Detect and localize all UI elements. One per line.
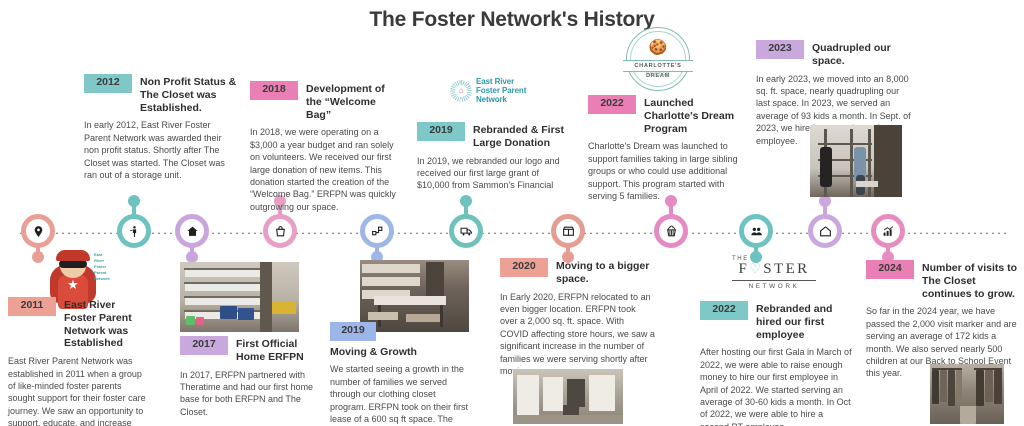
page-title: The Foster Network's History [0, 8, 1024, 32]
pin-ball [128, 195, 140, 207]
timeline-pin-2020[interactable] [551, 214, 585, 262]
event-card-2019-growth: 2019 Moving & Growth We started seeing a… [330, 320, 472, 426]
event-body: We started seeing a growth in the number… [330, 363, 472, 426]
year-badge: 2018 [250, 81, 298, 100]
event-body: After hosting our first Gala in March of… [700, 346, 852, 426]
foster-network-logo-network: NETWORK [718, 283, 830, 290]
erfpn-logo: ⌂ East River Foster Parent Network [450, 78, 560, 105]
timeline-axis [18, 231, 1008, 234]
foster-network-logo-word: F♡STER [718, 262, 830, 278]
event-card-2020: 2020 Moving to a bigger space. In Early … [500, 258, 655, 377]
year-badge: 2024 [866, 260, 914, 279]
erfpn-logo-text: East River Foster Parent Network [476, 78, 526, 105]
infographic-canvas: The Foster Network's History [0, 0, 1024, 426]
rebrand-network-icon [360, 214, 394, 248]
event-title: Launched Charlotte's Dream Program [644, 95, 740, 135]
timeline-pin-2019-moving[interactable] [449, 214, 483, 262]
year-badge: 2020 [500, 258, 548, 277]
year-badge: 2017 [180, 336, 228, 355]
timeline-pin-2017[interactable] [175, 214, 209, 262]
event-header: 2022 Rebranded and hired our first emplo… [700, 301, 852, 341]
charlottes-dream-logo: 🍪 CHARLOTTE'S DREAM FOSTER [619, 27, 697, 89]
pin-ball [460, 195, 472, 207]
mascot-mask [59, 260, 87, 268]
location-pin-icon [21, 214, 55, 248]
event-header: 2011 East River Foster Parent Network wa… [8, 297, 148, 350]
timeline-pin-2022-team[interactable] [739, 214, 773, 262]
event-header: 2017 First Official Home ERFPN [180, 336, 327, 364]
heart-icon: ♡ [749, 261, 763, 276]
team-people-icon [739, 214, 773, 248]
erfpn-sunburst-house-logo-icon: ⌂ [450, 80, 472, 102]
foster-network-logo: THE F♡STER NETWORK [718, 256, 830, 296]
mascot-hat [56, 250, 90, 261]
event-header: 2022 Launched Charlotte's Dream Program [588, 95, 740, 135]
timeline-pin-2024[interactable] [871, 214, 905, 262]
year-badge: 2022 [700, 301, 748, 320]
event-card-2012: 2012 Non Profit Status & The Closet was … [84, 74, 239, 181]
logo-rest: STER [763, 261, 809, 277]
year-badge: 2012 [84, 74, 132, 93]
event-body: East River Parent Network was establishe… [8, 355, 148, 426]
delivery-truck-icon [449, 214, 483, 248]
volunteer-person-icon [117, 214, 151, 248]
year-badge: 2023 [756, 40, 804, 59]
event-card-2024: 2024 Number of visits to The Closet cont… [866, 260, 1018, 380]
mascot-star-icon: ★ [66, 278, 80, 292]
event-body: In 2017, ERFPN partnered with Theratime … [180, 369, 327, 419]
timeline-pin-2023[interactable] [808, 214, 842, 262]
year-badge: 2019 [417, 122, 465, 141]
photo-clothing-racks [930, 364, 1004, 424]
event-header: 2023 Quadrupled our space. [756, 40, 913, 68]
cupcake-icon: 🍪 [647, 39, 669, 57]
event-title: First Official Home ERFPN [236, 336, 327, 364]
year-badge: 2011 [8, 297, 56, 316]
timeline-pin-2019-rebrand[interactable] [360, 214, 394, 262]
event-header: 2024 Number of visits to The Closet cont… [866, 260, 1018, 300]
moving-boxes-icon [551, 214, 585, 248]
event-title: Non Profit Status & The Closet was Estab… [140, 74, 239, 114]
shopping-bag-icon [263, 214, 297, 248]
house-outline-icon [808, 214, 842, 248]
event-body: In 2018, we were operating on a $3,000 a… [250, 126, 402, 213]
event-header: 2019 Moving & Growth [330, 320, 472, 358]
event-header: 2018 Development of the “Welcome Bag” [250, 81, 402, 121]
event-header: 2020 Moving to a bigger space. [500, 258, 655, 286]
event-card-2017: 2017 First Official Home ERFPN In 2017, … [180, 336, 327, 418]
event-title: Moving to a bigger space. [556, 258, 655, 286]
event-card-2019-rebrand: 2019 Rebranded & First Large Donation In… [417, 122, 569, 192]
home-icon [175, 214, 209, 248]
event-card-2022-charlottes-dream: 2022 Launched Charlotte's Dream Program … [588, 95, 740, 202]
event-body: In 2019, we rebranded our logo and recei… [417, 155, 569, 192]
pin-ball [32, 251, 44, 263]
logo-letter-f: F [738, 261, 749, 277]
timeline-pin-2018[interactable] [263, 214, 297, 262]
charlottes-dream-logo-sub: FOSTER [623, 72, 693, 78]
event-card-2011: 2011 East River Foster Parent Network wa… [8, 297, 148, 426]
erfpn-line-3: Network [476, 96, 526, 105]
event-body: Charlotte's Dream was launched to suppor… [588, 140, 740, 202]
event-title: Quadrupled our space. [812, 40, 913, 68]
event-title: Moving & Growth [330, 344, 472, 359]
logo-divider [732, 280, 816, 281]
year-badge: 2022 [588, 95, 636, 114]
timeline-pin-2022-charlottes-dream[interactable] [654, 214, 688, 262]
mascot-wordmark: East River Foster Parent Network [94, 252, 110, 282]
event-title: Rebranded and hired our first employee [756, 301, 852, 341]
dream-cupcake-icon [654, 214, 688, 248]
house-glyph: ⌂ [457, 87, 465, 95]
event-title: East River Foster Parent Network was Est… [64, 297, 148, 350]
event-body: In Early 2020, ERFPN relocated to an eve… [500, 291, 655, 378]
year-badge: 2019 [330, 322, 376, 341]
photo-new-space-build [810, 125, 902, 197]
growth-chart-icon [871, 214, 905, 248]
event-title: Number of visits to The Closet continues… [922, 260, 1018, 300]
photo-storage-shelves [180, 262, 299, 332]
photo-store-floor [513, 369, 623, 424]
event-header: 2019 Rebranded & First Large Donation [417, 122, 569, 150]
timeline-pin-2012[interactable] [117, 214, 151, 262]
event-card-2018: 2018 Development of the “Welcome Bag” In… [250, 81, 402, 213]
event-header: 2012 Non Profit Status & The Closet was … [84, 74, 239, 114]
charlottes-dream-logo-name: CHARLOTTE'S DREAM [623, 60, 693, 72]
event-title: Rebranded & First Large Donation [473, 122, 569, 150]
event-card-2022-rebrand: 2022 Rebranded and hired our first emplo… [700, 301, 852, 426]
event-body: In early 2012, East River Foster Parent … [84, 119, 239, 181]
event-title: Development of the “Welcome Bag” [306, 81, 402, 121]
